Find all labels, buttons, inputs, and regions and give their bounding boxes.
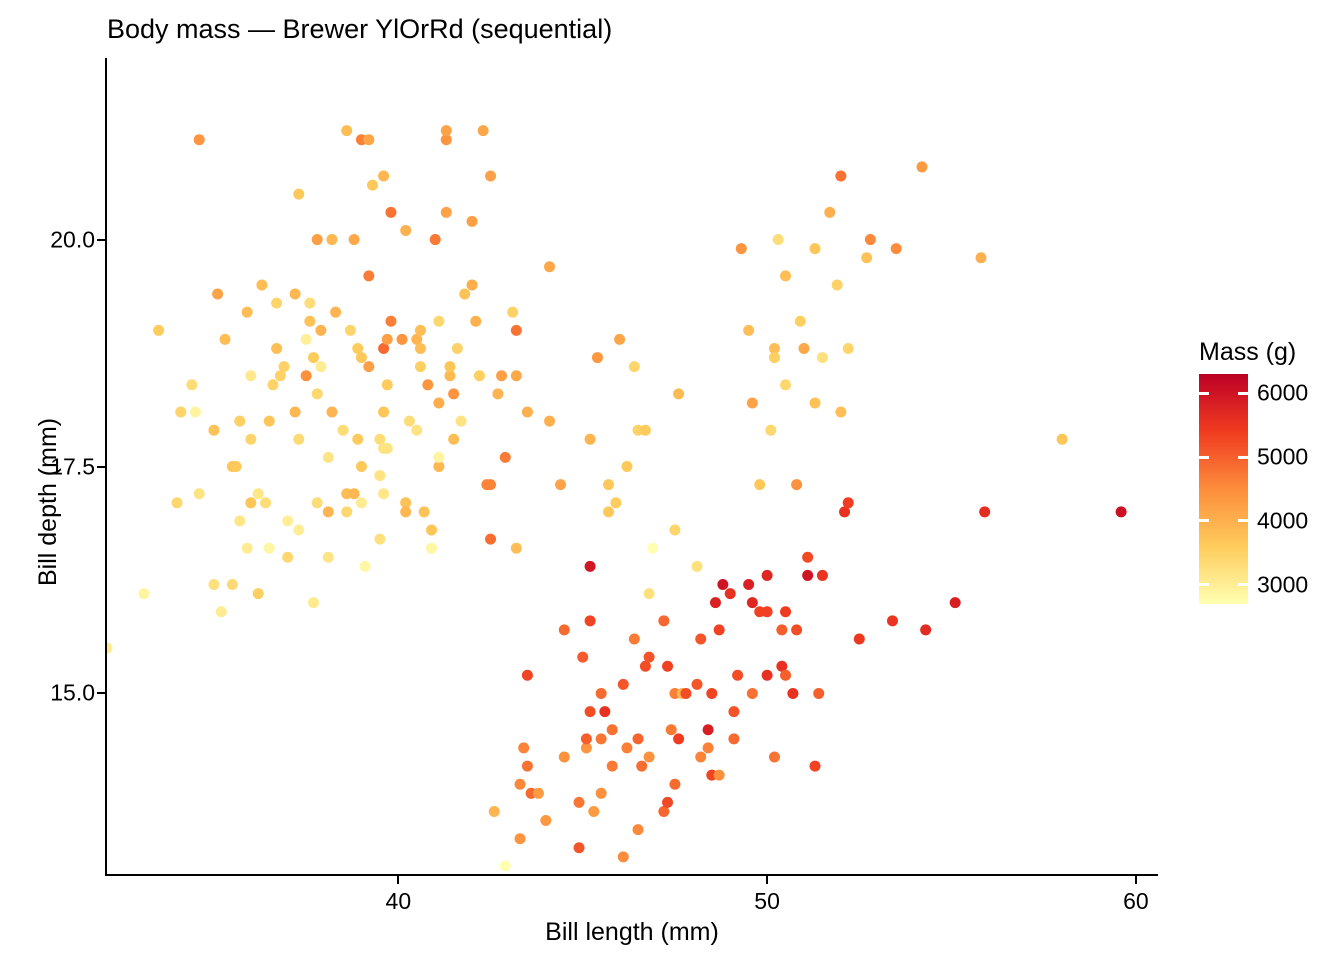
scatter-point — [172, 497, 183, 508]
scatter-point — [607, 761, 618, 772]
scatter-point — [544, 261, 555, 272]
scatter-point — [227, 579, 238, 590]
scatter-point — [190, 407, 201, 418]
scatter-point — [736, 243, 747, 254]
plot-panel — [107, 58, 1158, 875]
scatter-point — [618, 679, 629, 690]
scatter-point — [714, 770, 725, 781]
legend-tick-mark — [1238, 519, 1248, 522]
scatter-point — [304, 316, 315, 327]
scatter-point — [500, 860, 511, 871]
scatter-point — [253, 588, 264, 599]
scatter-point — [887, 615, 898, 626]
scatter-point — [644, 751, 655, 762]
scatter-point — [186, 379, 197, 390]
scatter-point — [747, 597, 758, 608]
scatter-point — [599, 706, 610, 717]
scatter-point — [511, 325, 522, 336]
scatter-point — [194, 488, 205, 499]
scatter-point — [762, 606, 773, 617]
scatter-point — [574, 842, 585, 853]
scatter-point — [349, 234, 360, 245]
scatter-point — [326, 234, 337, 245]
scatter-point — [308, 352, 319, 363]
scatter-point — [747, 688, 758, 699]
scatter-point — [234, 515, 245, 526]
scatter-point — [743, 325, 754, 336]
legend-tick-label: 3000 — [1257, 571, 1308, 598]
legend-tick-mark — [1199, 519, 1209, 522]
scatter-point — [673, 733, 684, 744]
scatter-point — [810, 397, 821, 408]
x-tick-mark — [766, 876, 768, 884]
scatter-point — [315, 325, 326, 336]
scatter-point — [301, 334, 312, 345]
scatter-point — [669, 525, 680, 536]
scatter-point — [743, 579, 754, 590]
x-tick-label: 60 — [1123, 888, 1149, 915]
scatter-point — [426, 543, 437, 554]
scatter-point — [596, 788, 607, 799]
scatter-point — [231, 461, 242, 472]
scatter-point — [415, 343, 426, 354]
scatter-point — [975, 252, 986, 263]
y-tick-mark — [97, 692, 105, 694]
scatter-point — [773, 234, 784, 245]
scatter-point — [662, 661, 673, 672]
scatter-point — [1057, 434, 1068, 445]
scatter-point — [208, 425, 219, 436]
x-tick-mark — [397, 876, 399, 884]
scatter-point — [441, 207, 452, 218]
scatter-point — [312, 388, 323, 399]
scatter-point — [323, 506, 334, 517]
scatter-point — [363, 270, 374, 281]
scatter-point — [658, 615, 669, 626]
scatter-point — [426, 525, 437, 536]
scatter-point — [245, 497, 256, 508]
scatter-point — [253, 488, 264, 499]
scatter-point — [865, 234, 876, 245]
scatter-point — [633, 824, 644, 835]
scatter-point — [810, 761, 821, 772]
scatter-point — [419, 506, 430, 517]
scatter-point — [293, 525, 304, 536]
scatter-point — [629, 633, 640, 644]
scatter-point — [290, 289, 301, 300]
scatter-point — [585, 434, 596, 445]
scatter-point — [264, 416, 275, 427]
scatter-point — [485, 479, 496, 490]
scatter-points-layer — [107, 58, 1158, 875]
scatter-point — [710, 597, 721, 608]
scatter-point — [208, 579, 219, 590]
scatter-point — [706, 688, 717, 699]
scatter-point — [234, 416, 245, 427]
scatter-point — [791, 624, 802, 635]
legend-tick-mark — [1238, 456, 1248, 459]
y-axis-line — [105, 58, 107, 876]
scatter-point — [456, 416, 467, 427]
scatter-point — [308, 597, 319, 608]
scatter-point — [714, 624, 725, 635]
scatter-point — [374, 470, 385, 481]
scatter-point — [610, 497, 621, 508]
scatter-point — [485, 171, 496, 182]
scatter-point — [695, 633, 706, 644]
scatter-point — [596, 688, 607, 699]
scatter-point — [559, 751, 570, 762]
legend-tick-mark — [1199, 583, 1209, 586]
scatter-point — [832, 279, 843, 290]
scatter-point — [891, 243, 902, 254]
scatter-point — [621, 461, 632, 472]
y-tick-mark — [97, 239, 105, 241]
scatter-point — [378, 407, 389, 418]
legend-tick-mark — [1199, 392, 1209, 395]
scatter-point — [341, 506, 352, 517]
scatter-point — [474, 370, 485, 381]
scatter-point — [175, 407, 186, 418]
scatter-point — [518, 742, 529, 753]
chart-root: Body mass — Brewer YlOrRd (sequential) 1… — [0, 0, 1344, 960]
scatter-point — [271, 343, 282, 354]
scatter-point — [762, 670, 773, 681]
scatter-point — [511, 370, 522, 381]
x-tick-label: 40 — [386, 888, 412, 915]
scatter-point — [920, 624, 931, 635]
scatter-point — [817, 570, 828, 581]
scatter-point — [692, 561, 703, 572]
scatter-point — [378, 488, 389, 499]
scatter-point — [802, 570, 813, 581]
scatter-point — [400, 506, 411, 517]
scatter-point — [795, 316, 806, 327]
scatter-point — [271, 298, 282, 309]
scatter-point — [264, 543, 275, 554]
scatter-point — [459, 289, 470, 300]
scatter-point — [448, 434, 459, 445]
scatter-point — [400, 225, 411, 236]
scatter-point — [787, 688, 798, 699]
scatter-point — [356, 352, 367, 363]
scatter-point — [621, 742, 632, 753]
scatter-point — [607, 724, 618, 735]
scatter-point — [666, 724, 677, 735]
scatter-point — [843, 497, 854, 508]
scatter-point — [441, 125, 452, 136]
page-title: Body mass — Brewer YlOrRd (sequential) — [107, 14, 612, 45]
scatter-point — [478, 125, 489, 136]
scatter-point — [574, 797, 585, 808]
y-axis-title: Bill depth (mm) — [34, 418, 63, 586]
scatter-point — [220, 334, 231, 345]
scatter-point — [382, 334, 393, 345]
scatter-point — [356, 461, 367, 472]
scatter-point — [363, 134, 374, 145]
scatter-point — [695, 751, 706, 762]
scatter-point — [515, 833, 526, 844]
scatter-point — [107, 643, 113, 654]
scatter-point — [835, 171, 846, 182]
scatter-point — [338, 425, 349, 436]
scatter-point — [382, 443, 393, 454]
scatter-point — [345, 325, 356, 336]
scatter-point — [633, 733, 644, 744]
scatter-point — [835, 407, 846, 418]
scatter-point — [762, 570, 773, 581]
scatter-point — [717, 579, 728, 590]
scatter-point — [242, 307, 253, 318]
scatter-point — [732, 670, 743, 681]
scatter-point — [614, 334, 625, 345]
scatter-point — [290, 407, 301, 418]
scatter-point — [267, 379, 278, 390]
scatter-point — [467, 216, 478, 227]
scatter-point — [588, 806, 599, 817]
scatter-point — [979, 506, 990, 517]
scatter-point — [540, 815, 551, 826]
scatter-point — [636, 761, 647, 772]
legend-gradient-bar — [1199, 374, 1248, 604]
scatter-point — [728, 706, 739, 717]
scatter-point — [315, 361, 326, 372]
scatter-point — [282, 552, 293, 563]
scatter-point — [489, 806, 500, 817]
scatter-point — [647, 543, 658, 554]
scatter-point — [301, 370, 312, 381]
scatter-point — [360, 561, 371, 572]
scatter-point — [378, 171, 389, 182]
scatter-point — [312, 497, 323, 508]
scatter-point — [522, 761, 533, 772]
scatter-point — [916, 161, 927, 172]
scatter-point — [577, 652, 588, 663]
scatter-point — [522, 407, 533, 418]
scatter-point — [585, 561, 596, 572]
scatter-point — [349, 488, 360, 499]
scatter-point — [153, 325, 164, 336]
x-tick-mark — [1135, 876, 1137, 884]
scatter-point — [703, 724, 714, 735]
scatter-point — [754, 479, 765, 490]
scatter-point — [511, 543, 522, 554]
scatter-point — [415, 325, 426, 336]
scatter-point — [555, 479, 566, 490]
scatter-point — [293, 434, 304, 445]
scatter-point — [500, 452, 511, 463]
scatter-point — [769, 352, 780, 363]
scatter-point — [629, 361, 640, 372]
scatter-point — [352, 434, 363, 445]
scatter-point — [293, 189, 304, 200]
scatter-point — [725, 588, 736, 599]
scatter-point — [515, 779, 526, 790]
legend-tick-label: 4000 — [1257, 507, 1308, 534]
scatter-point — [382, 379, 393, 390]
scatter-point — [411, 425, 422, 436]
legend-bar-wrap — [1199, 374, 1248, 604]
scatter-point — [843, 343, 854, 354]
scatter-point — [363, 361, 374, 372]
scatter-point — [242, 543, 253, 554]
legend-title: Mass (g) — [1199, 338, 1296, 367]
scatter-point — [861, 252, 872, 263]
scatter-point — [444, 361, 455, 372]
y-tick-label: 20.0 — [50, 226, 95, 253]
legend-tick-label: 5000 — [1257, 444, 1308, 471]
scatter-point — [194, 134, 205, 145]
scatter-point — [644, 652, 655, 663]
scatter-point — [813, 688, 824, 699]
scatter-point — [279, 361, 290, 372]
y-tick-label: 15.0 — [50, 680, 95, 707]
scatter-point — [245, 370, 256, 381]
scatter-point — [470, 316, 481, 327]
scatter-point — [780, 606, 791, 617]
scatter-point — [522, 670, 533, 681]
scatter-point — [662, 797, 673, 808]
scatter-point — [485, 534, 496, 545]
scatter-point — [397, 334, 408, 345]
scatter-point — [430, 234, 441, 245]
scatter-point — [433, 452, 444, 463]
scatter-point — [452, 343, 463, 354]
scatter-point — [1116, 506, 1127, 517]
scatter-point — [703, 742, 714, 753]
scatter-point — [415, 361, 426, 372]
scatter-point — [618, 851, 629, 862]
scatter-point — [780, 379, 791, 390]
scatter-point — [544, 416, 555, 427]
scatter-point — [533, 788, 544, 799]
scatter-point — [374, 534, 385, 545]
scatter-point — [422, 379, 433, 390]
scatter-point — [644, 588, 655, 599]
scatter-point — [791, 479, 802, 490]
x-tick-label: 50 — [754, 888, 780, 915]
scatter-point — [559, 624, 570, 635]
scatter-point — [304, 298, 315, 309]
scatter-point — [596, 733, 607, 744]
scatter-point — [810, 243, 821, 254]
scatter-point — [603, 479, 614, 490]
scatter-point — [212, 289, 223, 300]
scatter-point — [581, 733, 592, 744]
legend-tick-mark — [1199, 456, 1209, 459]
scatter-point — [282, 515, 293, 526]
scatter-point — [824, 207, 835, 218]
scatter-point — [692, 679, 703, 690]
legend-tick-mark — [1238, 392, 1248, 395]
legend-tick-mark — [1238, 583, 1248, 586]
scatter-point — [312, 234, 323, 245]
scatter-point — [323, 452, 334, 463]
scatter-point — [776, 624, 787, 635]
scatter-point — [747, 397, 758, 408]
scatter-point — [138, 588, 149, 599]
scatter-point — [798, 343, 809, 354]
scatter-point — [433, 397, 444, 408]
scatter-point — [802, 552, 813, 563]
scatter-point — [603, 506, 614, 517]
scatter-point — [780, 270, 791, 281]
scatter-point — [765, 425, 776, 436]
scatter-point — [448, 388, 459, 399]
scatter-point — [492, 388, 503, 399]
scatter-point — [323, 552, 334, 563]
scatter-point — [585, 706, 596, 717]
scatter-point — [817, 352, 828, 363]
scatter-point — [367, 180, 378, 191]
x-axis-line — [107, 874, 1158, 876]
scatter-point — [585, 615, 596, 626]
scatter-point — [404, 416, 415, 427]
scatter-point — [680, 688, 691, 699]
y-tick-mark — [97, 466, 105, 468]
scatter-point — [507, 307, 518, 318]
scatter-point — [950, 597, 961, 608]
scatter-point — [592, 352, 603, 363]
scatter-point — [385, 316, 396, 327]
scatter-point — [326, 407, 337, 418]
scatter-point — [467, 279, 478, 290]
scatter-point — [433, 316, 444, 327]
scatter-point — [260, 497, 271, 508]
scatter-point — [216, 606, 227, 617]
scatter-point — [245, 434, 256, 445]
scatter-point — [780, 670, 791, 681]
scatter-point — [341, 125, 352, 136]
scatter-point — [669, 779, 680, 790]
legend-tick-label: 6000 — [1257, 380, 1308, 407]
scatter-point — [640, 425, 651, 436]
scatter-point — [854, 633, 865, 644]
scatter-point — [356, 497, 367, 508]
scatter-point — [385, 207, 396, 218]
scatter-point — [673, 388, 684, 399]
scatter-point — [769, 751, 780, 762]
scatter-point — [256, 279, 267, 290]
scatter-point — [728, 733, 739, 744]
x-axis-title: Bill length (mm) — [545, 918, 719, 947]
scatter-point — [330, 307, 341, 318]
scatter-point — [496, 370, 507, 381]
